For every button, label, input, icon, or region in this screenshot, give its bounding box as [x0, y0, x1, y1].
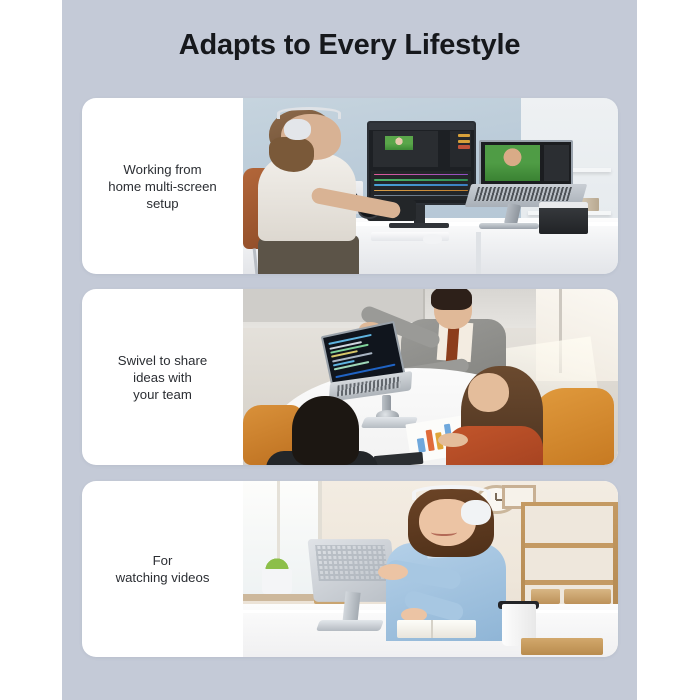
laptop-side-panel — [544, 145, 569, 181]
open-notebook — [397, 620, 476, 638]
lifestyle-card-1[interactable]: Working from home multi-screen setup — [82, 98, 618, 274]
external-monitor — [367, 121, 476, 205]
mouse — [423, 234, 442, 245]
timeline-track-4 — [374, 190, 469, 191]
shelf-board-2 — [525, 580, 613, 585]
card-1-text-area: Working from home multi-screen setup — [82, 98, 243, 274]
editor-preview-image — [385, 136, 414, 150]
notebook-spine — [431, 620, 433, 638]
woman-smile — [431, 529, 457, 536]
foreground-person-head — [292, 396, 360, 465]
closed-book — [521, 638, 604, 656]
scene-home-office — [243, 98, 618, 274]
desk-leg-right — [476, 232, 481, 274]
monitor-base — [389, 223, 449, 228]
person-hair-front — [269, 137, 314, 172]
editor-control-2 — [458, 140, 471, 143]
laptop-preview-image — [485, 145, 541, 181]
timeline-track-1 — [374, 174, 469, 175]
person-lower-body — [258, 235, 359, 274]
card-3-text-area: For watching videos — [82, 481, 243, 657]
editor-preview-canvas — [373, 131, 438, 167]
scene-watching-videos — [243, 481, 618, 657]
laptop-screen — [479, 140, 573, 186]
orange-chair-right — [532, 388, 615, 465]
card-3-caption: For watching videos — [116, 552, 210, 586]
page-root: Adapts to Every Lifestyle Working from h… — [0, 0, 700, 700]
woman-face — [468, 373, 509, 412]
timeline-track-5 — [374, 195, 469, 196]
shelf-board-1 — [525, 543, 613, 548]
timeline-track-3 — [374, 184, 469, 185]
lifestyle-card-3[interactable]: For watching videos — [82, 481, 618, 657]
card-1-photo — [243, 98, 618, 274]
chart-bar-2 — [425, 429, 434, 451]
editor-control-3 — [458, 145, 471, 148]
card-1-caption: Working from home multi-screen setup — [108, 161, 216, 212]
monitor-toolbar — [369, 123, 474, 130]
woman-pointing-hand — [378, 564, 408, 580]
timeline-track-2 — [374, 179, 469, 180]
ceiling-panel-2 — [303, 289, 365, 322]
plant-pot — [262, 569, 292, 594]
editor-control-1 — [458, 134, 471, 137]
storage-device — [539, 202, 588, 234]
headphones-headband — [277, 107, 341, 119]
headphones-headband — [412, 485, 491, 501]
laptop-stand-base — [479, 223, 539, 229]
laptop-keyboard — [473, 187, 571, 201]
card-2-text-area: Swivel to share ideas with your team — [82, 289, 243, 465]
card-2-caption: Swivel to share ideas with your team — [118, 352, 207, 403]
headphones-earcup — [284, 119, 310, 140]
editor-timeline — [371, 171, 472, 200]
window-sill — [243, 594, 322, 601]
lifestyle-card-2[interactable]: Swivel to share ideas with your team — [82, 289, 618, 465]
page-title: Adapts to Every Lifestyle — [62, 26, 637, 64]
tablet-back-texture — [314, 546, 387, 581]
card-3-photo — [243, 481, 618, 657]
storage-basket-3 — [587, 589, 612, 603]
scene-meeting-room — [243, 289, 618, 465]
card-2-photo — [243, 289, 618, 465]
chart-bar-1 — [417, 438, 425, 453]
ceiling-panel-1 — [243, 289, 305, 322]
man-hair — [431, 289, 472, 310]
tablet-stand-base — [316, 620, 384, 631]
storage-device-top — [539, 202, 588, 208]
headphones-earcup — [461, 500, 491, 525]
